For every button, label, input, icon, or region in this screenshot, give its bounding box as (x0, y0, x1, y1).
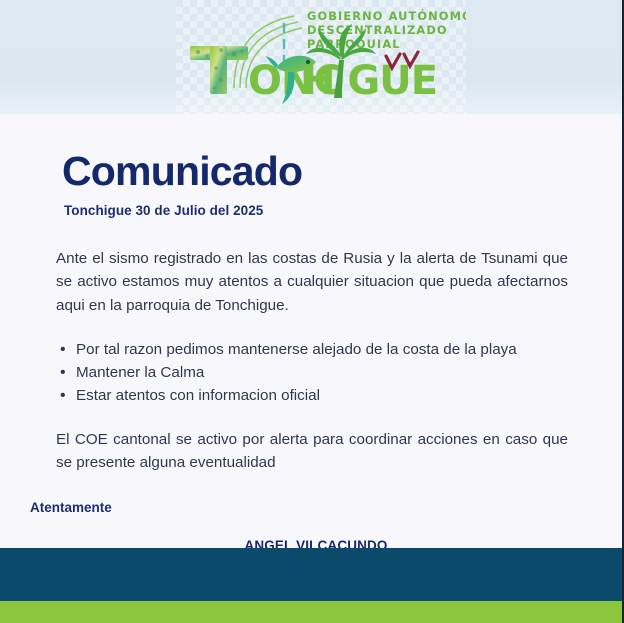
tonchigue-logo: GOBIERNO AUTÓNOMO DESCENTRALIZADO PARROQ… (176, 2, 466, 112)
paragraph-intro: Ante el sismo registrado en las costas d… (56, 247, 568, 317)
instructions-list: Por tal razon pedimos mantenerse alejado… (56, 339, 568, 407)
document-body: Comunicado Tonchigue 30 de Julio del 202… (0, 114, 624, 576)
sign-off-label: Atentamente (30, 500, 624, 515)
list-item: Por tal razon pedimos mantenerse alejado… (56, 339, 568, 362)
paragraph-coe: El COE cantonal se activo por alerta par… (56, 428, 568, 475)
document-date: Tonchigue 30 de Julio del 2025 (64, 203, 624, 218)
footer-bar-blue (0, 548, 624, 601)
logo-wordmark-higue: H GUE (302, 58, 437, 104)
header-band: GOBIERNO AUTÓNOMO DESCENTRALIZADO PARROQ… (0, 0, 624, 114)
comunicado-poster: GOBIERNO AUTÓNOMO DESCENTRALIZADO PARROQ… (0, 0, 624, 623)
footer-bar-green (0, 601, 624, 623)
svg-text:DESCENTRALIZADO: DESCENTRALIZADO (307, 23, 448, 37)
svg-text:GOBIERNO AUTÓNOMO: GOBIERNO AUTÓNOMO (307, 8, 466, 23)
list-item: Mantener la Calma (56, 362, 568, 385)
page-title: Comunicado (62, 150, 624, 193)
list-item: Estar atentos con informacion oficial (56, 385, 568, 408)
